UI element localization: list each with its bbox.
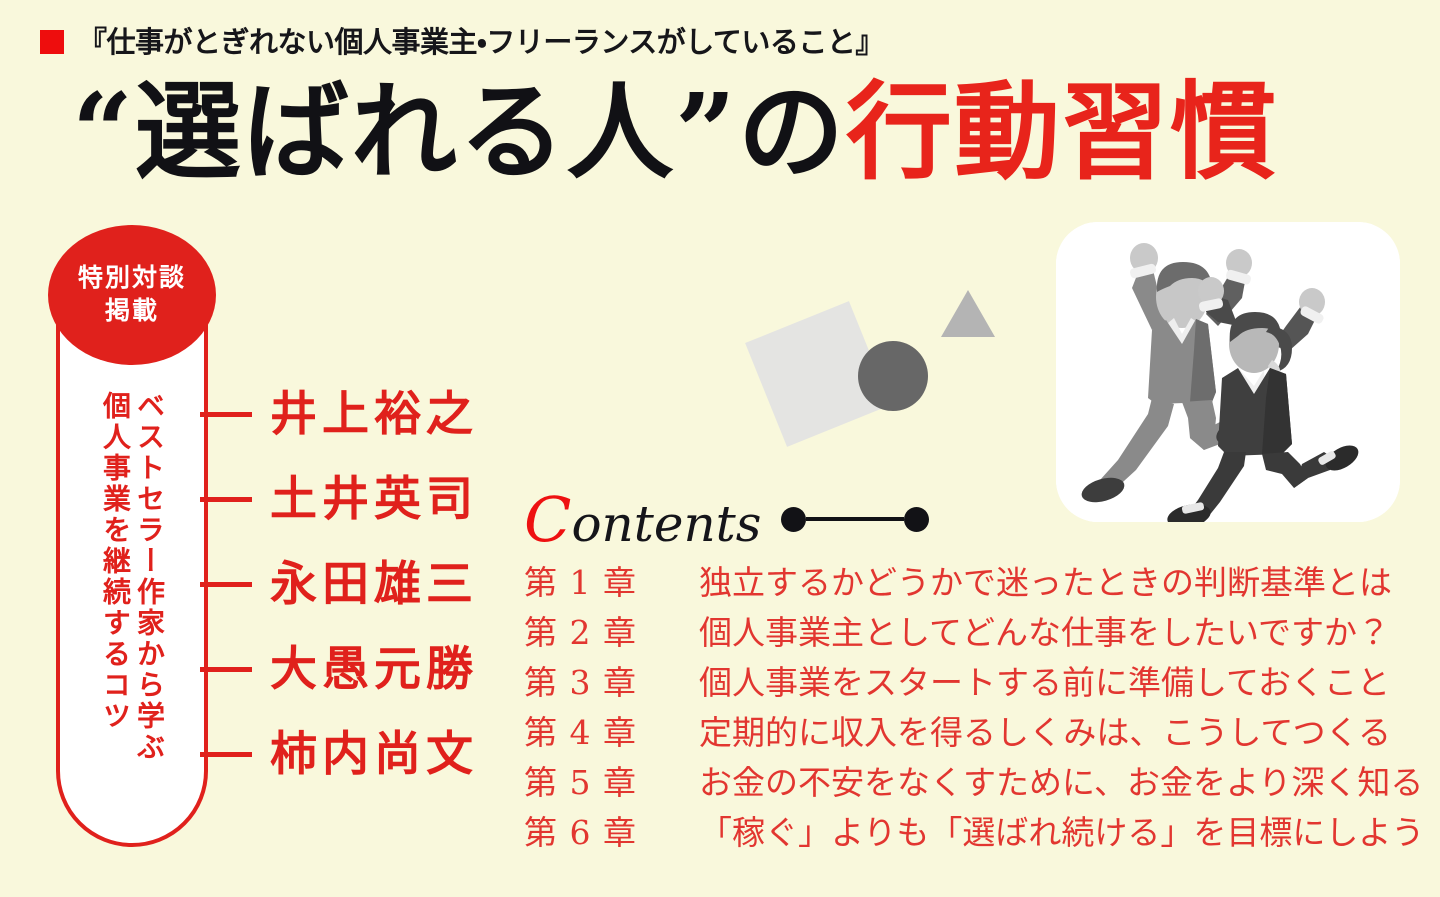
table-row: 第 6 章 「稼ぐ」よりも「選ばれ続ける」を目標にしよう	[524, 816, 1384, 866]
table-row: 第 2 章 個人事業主としてどんな仕事をしたいですか？	[524, 616, 1384, 666]
chapter-title: 個人事業をスタートする前に準備しておくこと	[699, 666, 1390, 699]
poster-canvas: 『仕事がとぎれない個人事業主・フリーランスがしていること』 “選ばれる人”の行動…	[0, 0, 1440, 897]
book-subtitle: 『仕事がとぎれない個人事業主・フリーランスがしていること』	[78, 28, 884, 57]
table-row: 第 3 章 個人事業をスタートする前に準備しておくこと	[524, 666, 1384, 716]
page-title-red: 行動習慣	[846, 69, 1278, 194]
connector-dash-icon	[200, 412, 252, 417]
chapter-title: 独立するかどうかで迷ったときの判断基準とは	[699, 566, 1392, 599]
chapter-label: 第 2 章	[524, 616, 699, 649]
page-title-black: “選ばれる人”の	[72, 69, 846, 194]
list-item: 土井英司	[200, 457, 520, 542]
barbell-icon	[781, 507, 929, 532]
author-name: 永田雄三	[270, 561, 478, 608]
chapter-label: 第 4 章	[524, 716, 699, 749]
connector-dash-icon	[200, 497, 252, 502]
barbell-knob-right	[904, 507, 929, 532]
chapter-title: 「稼ぐ」よりも「選ばれ続ける」を目標にしよう	[699, 816, 1424, 849]
pill-vertical-text-right: ベストセラー作家から学ぶ	[135, 391, 163, 803]
contents-label: Contents	[524, 489, 761, 551]
chapter-title: 個人事業主としてどんな仕事をしたいですか？	[699, 616, 1390, 649]
two-people-jumping-celebration-icon	[1056, 222, 1400, 522]
table-row: 第 5 章 お金の不安をなくすために、お金をより深く知る	[524, 766, 1384, 816]
chapter-title: お金の不安をなくすために、お金をより深く知る	[699, 766, 1423, 799]
chapter-label: 第 6 章	[524, 816, 699, 849]
connector-dash-icon	[200, 752, 252, 757]
barbell-knob-left	[781, 507, 806, 532]
table-row: 第 1 章 独立するかどうかで迷ったときの判断基準とは	[524, 566, 1384, 616]
contents-rest: ontents	[571, 495, 761, 553]
pill-vertical-text: ベストセラー作家から学ぶ 個人事業を継続するコツ	[56, 383, 208, 803]
list-item: 井上裕之	[200, 372, 520, 457]
contents-heading: Contents	[524, 492, 929, 548]
chapter-list: 第 1 章 独立するかどうかで迷ったときの判断基準とは 第 2 章 個人事業主と…	[524, 566, 1384, 866]
circle-shape-icon	[858, 341, 928, 411]
triangle-shape-icon	[941, 290, 995, 337]
special-feature-pill: ベストセラー作家から学ぶ 個人事業を継続するコツ 特別対談 掲載	[56, 235, 208, 847]
author-name: 大愚元勝	[270, 646, 478, 693]
subtitle-row: 『仕事がとぎれない個人事業主・フリーランスがしていること』	[40, 24, 884, 60]
illustration-card	[1056, 222, 1400, 522]
red-square-bullet-icon	[40, 30, 64, 54]
chapter-label: 第 5 章	[524, 766, 699, 799]
chapter-title: 定期的に収入を得るしくみは、こうしてつくる	[699, 716, 1391, 749]
author-name: 土井英司	[270, 476, 478, 523]
connector-dash-icon	[200, 582, 252, 587]
badge-line-1: 特別対談	[78, 264, 186, 293]
author-list: 井上裕之 土井英司 永田雄三 大愚元勝 柿内尚文	[200, 372, 520, 797]
barbell-bar	[806, 517, 904, 521]
list-item: 柿内尚文	[200, 712, 520, 797]
chapter-label: 第 1 章	[524, 566, 699, 599]
pill-vertical-text-left: 個人事業を継続するコツ	[101, 391, 129, 803]
author-name: 柿内尚文	[270, 731, 478, 778]
author-name: 井上裕之	[270, 391, 478, 438]
badge-line-2: 掲載	[105, 297, 159, 326]
list-item: 永田雄三	[200, 542, 520, 627]
connector-dash-icon	[200, 667, 252, 672]
table-row: 第 4 章 定期的に収入を得るしくみは、こうしてつくる	[524, 716, 1384, 766]
page-title: “選ばれる人”の行動習慣	[72, 74, 1278, 191]
list-item: 大愚元勝	[200, 627, 520, 712]
status-badge: 特別対談 掲載	[48, 225, 216, 365]
contents-initial: C	[524, 483, 571, 556]
chapter-label: 第 3 章	[524, 666, 699, 699]
